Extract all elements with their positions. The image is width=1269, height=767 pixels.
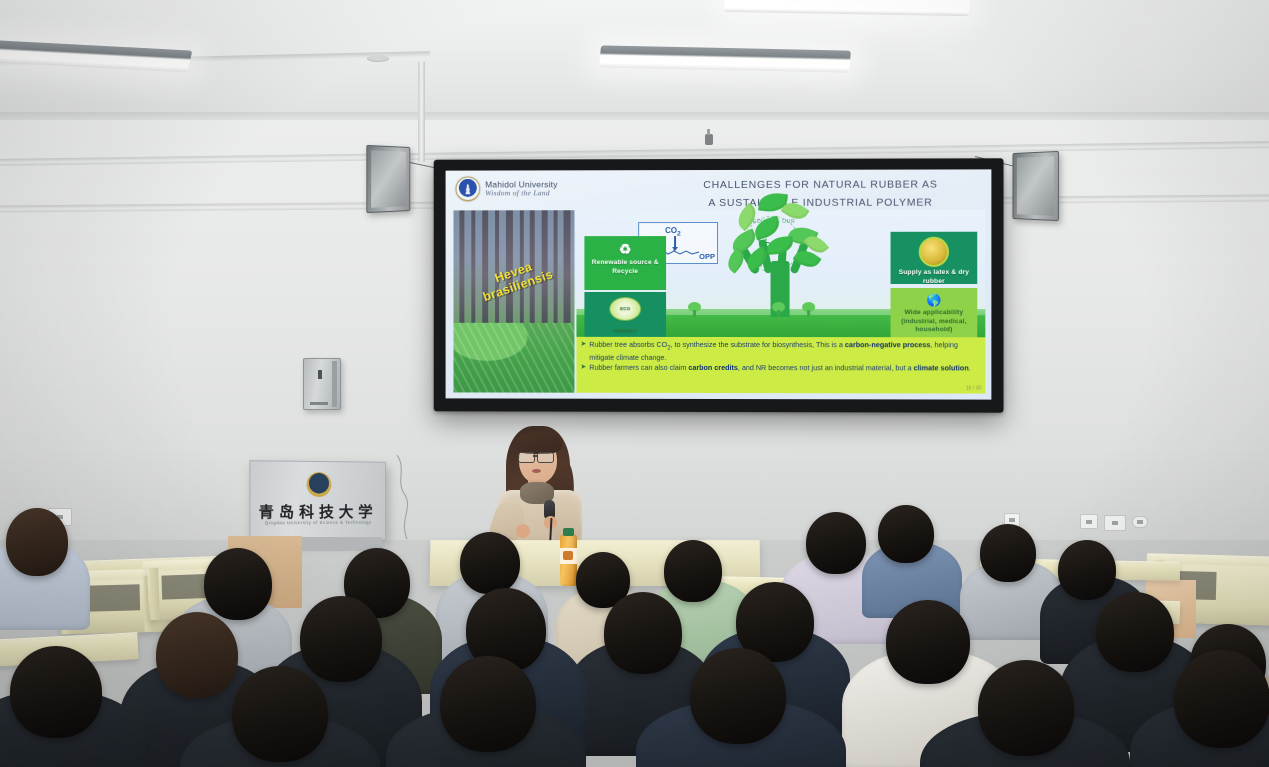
panel-hinge <box>332 361 337 407</box>
audience-head <box>1096 592 1174 672</box>
bullet-text-2: Rubber farmers can also claim carbon cre… <box>589 363 971 374</box>
slide-diagram: CO2 OPP REDUCING OUR FOOTPRINT C <box>576 210 985 338</box>
wall-cable <box>393 455 415 539</box>
wall-outlet[interactable] <box>1104 515 1126 531</box>
speaker-grille <box>1017 156 1054 215</box>
panel-knob[interactable] <box>318 370 322 379</box>
audience-head <box>690 648 786 744</box>
audience-head <box>806 512 866 574</box>
audience-head <box>1058 540 1116 600</box>
audience-head <box>204 548 272 620</box>
podium-sign: 青岛科技大学 Qingdao University of Science & T… <box>249 460 386 542</box>
wall-speaker-left <box>366 145 410 213</box>
audience-head <box>886 600 970 684</box>
rubber-plantation-photo: Hevea brasiliensis <box>453 210 574 392</box>
audience-head <box>878 505 934 563</box>
university-tagline: Wisdom of the Land <box>485 189 557 198</box>
ceiling-camera-icon <box>705 134 713 145</box>
audience-head <box>980 524 1036 582</box>
bottle-label <box>560 548 577 564</box>
audience-head <box>440 656 536 752</box>
smoke-detector-icon <box>367 55 389 62</box>
small-tree-icon <box>688 302 701 317</box>
end-group-label: OPP <box>699 252 715 261</box>
audience-head <box>156 612 238 698</box>
small-tree-icon <box>772 302 785 317</box>
audience-head <box>300 596 382 682</box>
co2-label: CO2 <box>665 226 681 238</box>
audience-head <box>664 540 722 602</box>
audience-head <box>232 666 328 762</box>
bullet-text-1: Rubber tree absorbs CO2, to synthesize t… <box>589 340 980 364</box>
slide-number: 16 / 30 <box>966 385 981 391</box>
speaker-grille <box>371 150 406 207</box>
bullet-arrow-icon: ➤ <box>580 363 586 373</box>
audience-head <box>978 660 1074 756</box>
audience-head <box>6 508 68 576</box>
audience-head <box>604 592 682 674</box>
eyeglasses-icon <box>537 452 554 463</box>
presenter-mouth <box>532 469 541 473</box>
recycle-icon: ♻ <box>587 242 663 256</box>
bottle-cap <box>563 528 574 536</box>
qust-emblem-icon <box>307 472 332 497</box>
podium-sign-english: Qingdao University of Science & Technolo… <box>250 520 385 526</box>
audience-head <box>10 646 102 738</box>
panel-label <box>310 402 328 405</box>
projection-display: Mahidol University Wisdom of the Land CH… <box>434 158 1004 412</box>
info-card-applicability: 🌎 Wide applicability (industrial, medica… <box>891 288 978 344</box>
small-tree-icon <box>802 302 815 317</box>
rubber-tree-illustration <box>721 189 839 317</box>
bullet-item: ➤ Rubber tree absorbs CO2, to synthesize… <box>580 340 980 364</box>
display-panel: Mahidol University Wisdom of the Land CH… <box>446 169 992 399</box>
presenter-fringe <box>514 432 562 454</box>
lecture-hall-photo: Mahidol University Wisdom of the Land CH… <box>0 0 1269 767</box>
wall-outlet[interactable] <box>1080 514 1098 529</box>
latex-tapping-icon <box>919 237 949 267</box>
university-name: Mahidol University <box>485 180 557 189</box>
desk-leg <box>149 568 160 620</box>
mahidol-emblem-icon <box>455 177 480 202</box>
info-card-supply: Supply as latex & dry rubber <box>891 232 978 284</box>
info-card-renewable: ♻ Renewable source & Recycle <box>584 236 666 290</box>
bullet-item: ➤ Rubber farmers can also claim carbon c… <box>580 363 980 374</box>
university-logo-block: Mahidol University Wisdom of the Land <box>455 176 557 201</box>
eco-seal-icon: ECO FRIENDLY <box>609 297 641 321</box>
slide-bullet-band: ➤ Rubber tree absorbs CO2, to synthesize… <box>576 337 985 394</box>
beverage-bottle <box>560 534 577 586</box>
audience-head <box>1174 650 1269 748</box>
wall-outlet[interactable] <box>1132 516 1148 528</box>
presenter-hand-left <box>516 524 530 538</box>
audience-head <box>460 532 520 594</box>
info-card-applicability-text: Wide applicability (industrial, medical,… <box>901 309 967 334</box>
eyeglasses-bridge <box>533 455 538 457</box>
wall-speaker-right <box>1013 151 1059 221</box>
bullet-arrow-icon: ➤ <box>580 340 586 350</box>
globe-icon: 🌎 <box>894 294 975 306</box>
ceiling-conduit-vertical <box>418 62 425 162</box>
plantation-ground-cover <box>453 323 574 392</box>
presentation-slide: Mahidol University Wisdom of the Land CH… <box>446 169 992 399</box>
wall-control-panel[interactable] <box>303 358 341 410</box>
info-card-renewable-text: Renewable source & Recycle <box>592 259 659 275</box>
eyeglasses-icon <box>518 452 535 463</box>
info-card-supply-text: Supply as latex & dry rubber <box>899 269 969 285</box>
